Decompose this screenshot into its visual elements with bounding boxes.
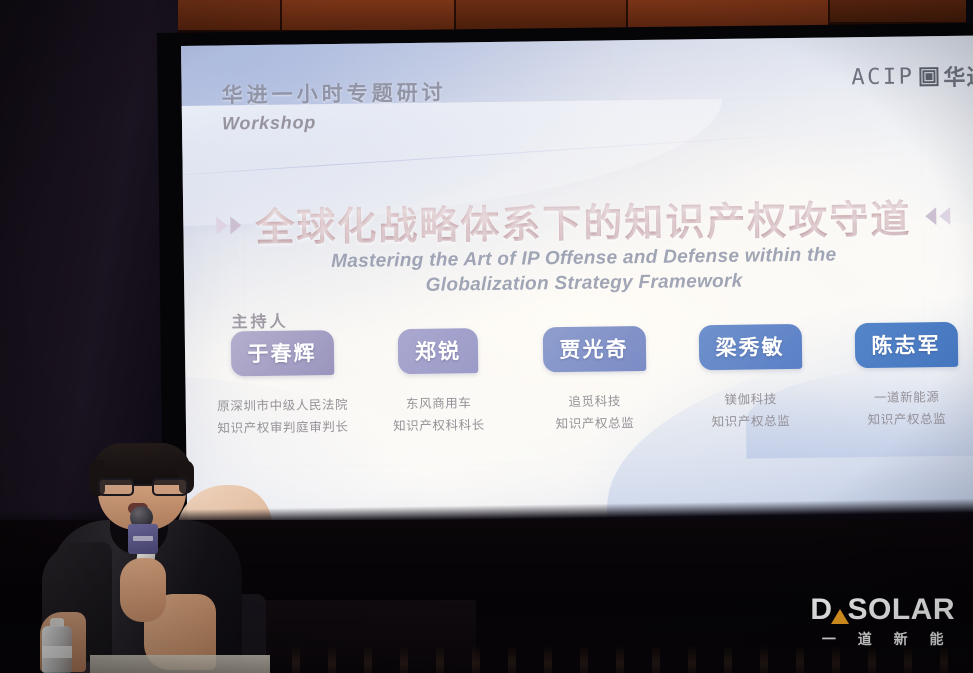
- panelist-item: 梁秀敏 镁伽科技 知识产权总监: [671, 324, 830, 435]
- dasolar-triangle-icon: [831, 609, 849, 624]
- stage-floor-texture: [170, 645, 973, 673]
- panelist-org: 一道新能源: [828, 386, 973, 410]
- acip-cn-wordmark: 华进: [943, 59, 973, 92]
- panelist-affiliation: 原深圳市中级人民法院 知识产权审判庭审判长: [204, 395, 363, 441]
- acip-square-mark-icon: [919, 67, 938, 86]
- panelist-item: 贾光奇 追觅科技 知识产权总监: [515, 326, 674, 437]
- panelist-name-chip: 贾光奇: [542, 326, 646, 372]
- acip-wordmark: ACIP: [851, 64, 914, 90]
- glasses-lens: [152, 478, 188, 496]
- panelist-org: 原深圳市中级人民法院: [204, 395, 362, 419]
- slide-subtitle: Mastering the Art of IP Offense and Defe…: [184, 241, 973, 302]
- dasolar-cn-char: 一: [822, 629, 845, 649]
- dasolar-letters-rest: SOLAR: [848, 593, 956, 627]
- panelist-role: 知识产权审判庭审判长: [204, 417, 362, 441]
- speaker-hand: [120, 558, 166, 622]
- eyebrow-en-text: Workshop: [222, 111, 447, 135]
- panelist-role: 知识产权总监: [828, 408, 973, 432]
- bottle-label: [42, 646, 72, 658]
- panelist-org: 东风商用车: [360, 393, 518, 417]
- panelist-affiliation: 东风商用车 知识产权科科长: [360, 393, 519, 439]
- wall-panel: [830, 0, 973, 22]
- stage-photo: 华进一小时专题研讨 Workshop ACIP 华进 全球化战略体系下的知识产权…: [0, 0, 973, 673]
- dasolar-letter-d: D: [810, 593, 832, 627]
- panelist-org: 追觅科技: [516, 391, 674, 415]
- panelist-role: 知识产权科科长: [360, 414, 518, 438]
- acip-logo: ACIP 华进: [851, 59, 973, 93]
- panelist-org: 镁伽科技: [672, 389, 830, 413]
- panelist-item: 郑锐 东风商用车 知识产权科科长: [359, 328, 518, 439]
- dasolar-cn-char: 新: [894, 629, 917, 649]
- panelist-affiliation: 镁伽科技 知识产权总监: [672, 389, 831, 435]
- eyebrow-cn-text: 华进一小时专题研讨: [221, 77, 446, 110]
- panelist-list: 于春辉 原深圳市中级人民法院 知识产权审判庭审判长 郑锐 东风商用车 知识产权科…: [185, 322, 973, 492]
- dasolar-cn-wordmark: 一 道 新 能: [810, 629, 955, 649]
- projection-screen: 华进一小时专题研讨 Workshop ACIP 华进 全球化战略体系下的知识产权…: [181, 36, 973, 529]
- panelist-name-chip: 梁秀敏: [698, 324, 802, 370]
- slide-eyebrow: 华进一小时专题研讨 Workshop: [221, 77, 447, 135]
- glasses-lens: [98, 478, 134, 496]
- panelist-item: 陈志军 一道新能源 知识产权总监: [827, 322, 973, 433]
- panelist-role: 知识产权总监: [516, 412, 674, 436]
- dasolar-wordmark: D SOLAR: [810, 593, 955, 627]
- panelist-name-chip: 陈志军: [854, 322, 958, 368]
- wall-panel: [456, 0, 626, 30]
- chevron-double-right-icon: [216, 216, 241, 234]
- stage-table: [90, 655, 270, 673]
- dasolar-cn-char: 能: [930, 629, 953, 649]
- panelist-role: 知识产权总监: [672, 410, 830, 434]
- panelist-item: 于春辉 原深圳市中级人民法院 知识产权审判庭审判长: [203, 330, 362, 441]
- panelist-name-chip: 郑锐: [398, 328, 479, 374]
- dasolar-cn-char: 道: [858, 629, 881, 649]
- water-bottle: [42, 618, 72, 673]
- microphone-flag-mark: [133, 536, 153, 541]
- panelist-name-chip: 于春辉: [230, 330, 334, 376]
- speaker-glasses: [98, 478, 188, 496]
- panelist-affiliation: 追觅科技 知识产权总监: [516, 391, 675, 437]
- wall-panel: [282, 0, 454, 30]
- glasses-bridge: [134, 484, 152, 486]
- dasolar-watermark: D SOLAR 一 道 新 能: [810, 593, 955, 649]
- chevron-double-left-icon: [925, 207, 950, 225]
- panelist-affiliation: 一道新能源 知识产权总监: [828, 386, 973, 432]
- host-label: 主持人: [231, 308, 288, 333]
- microphone-flag: [128, 524, 158, 554]
- slide-content: 华进一小时专题研讨 Workshop ACIP 华进 全球化战略体系下的知识产权…: [181, 36, 973, 529]
